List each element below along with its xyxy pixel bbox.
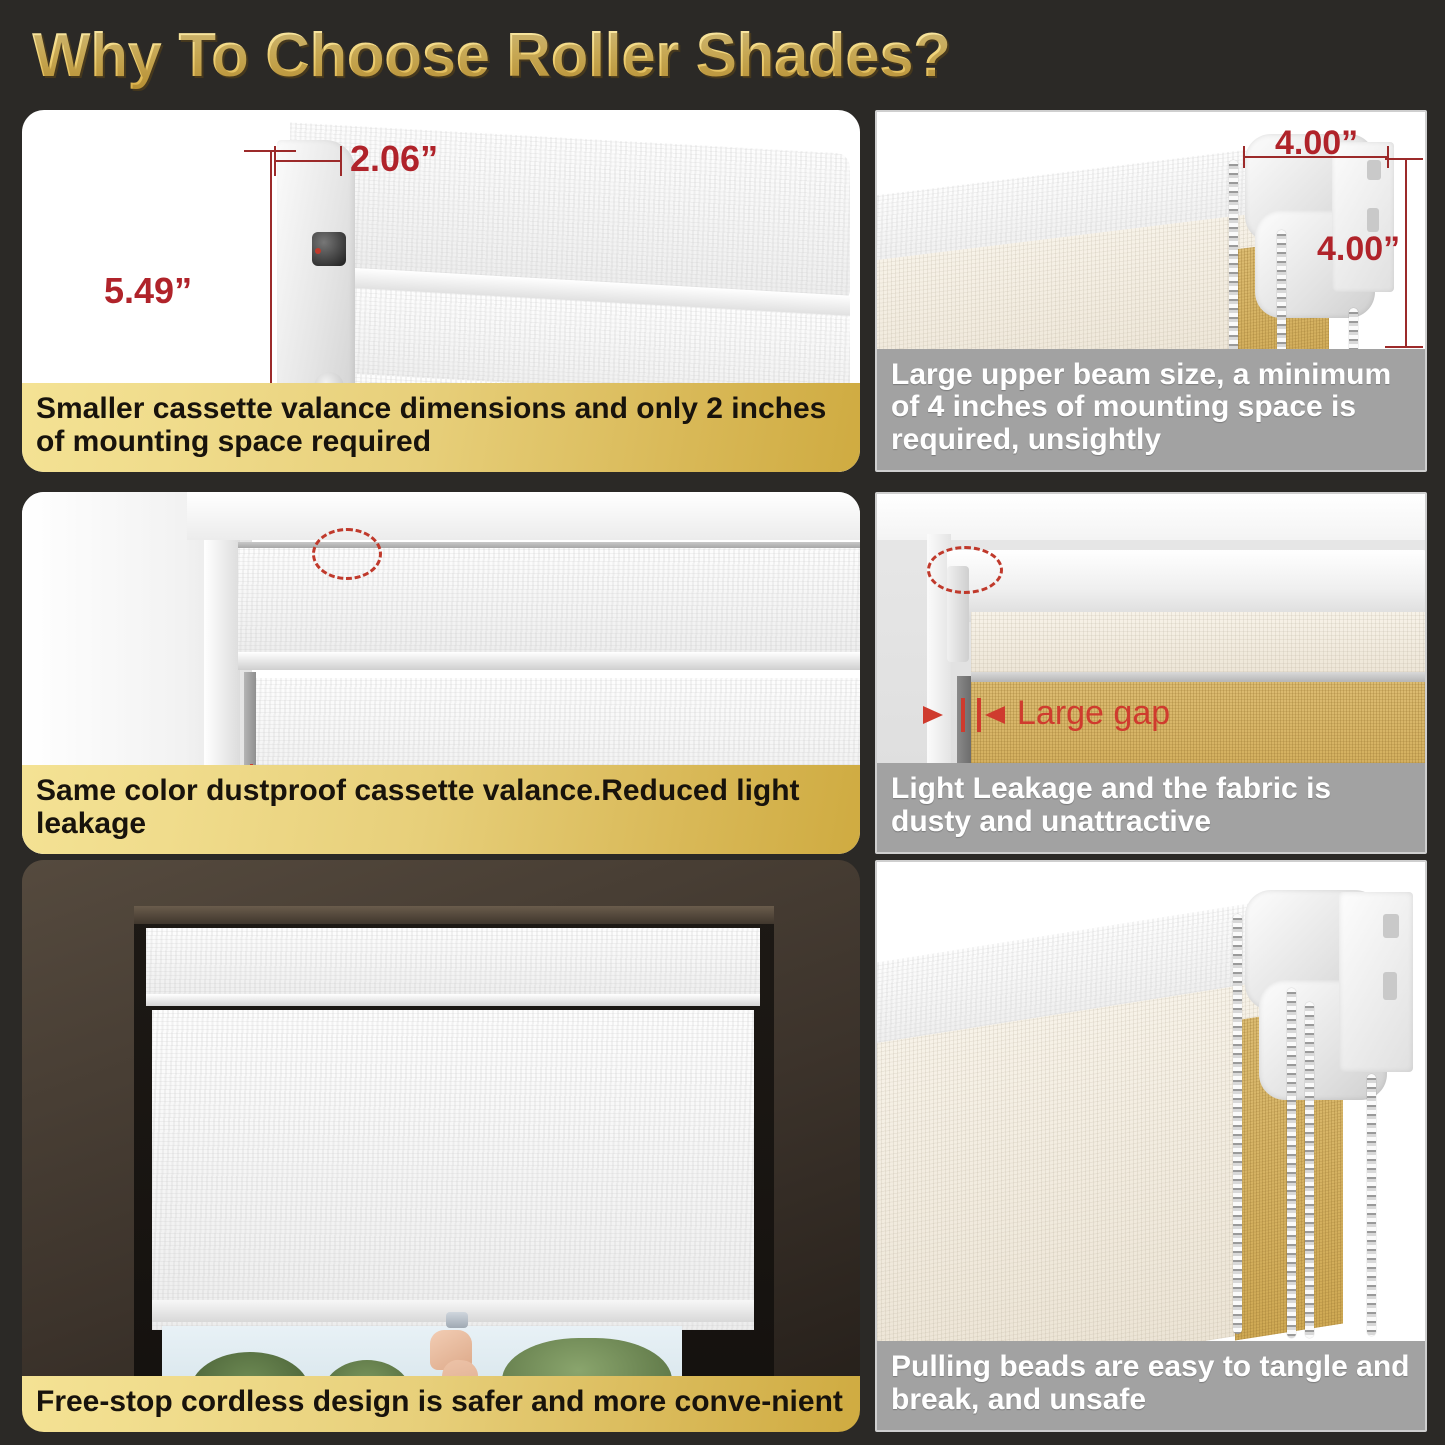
beam-height-dim-line (1405, 158, 1407, 348)
gap-arrow-left (923, 706, 943, 724)
beam-width-tick-left (1243, 146, 1245, 168)
cream-fabric-band (971, 612, 1425, 680)
caption-cassette-valance-dimensions: Smaller cassette valance dimensions and … (22, 383, 860, 472)
comparison-grid: 2.06” 5.49” Smaller cassette valance dim… (0, 110, 1445, 1445)
shade-fabric-panel (152, 1010, 754, 1330)
width-dim-line (274, 160, 342, 162)
ceiling-band (877, 494, 1425, 540)
end-cap-marker-dot (315, 248, 321, 254)
cream-fabric-front (877, 978, 1287, 1396)
gap-measure-tick-b (977, 698, 981, 732)
panel-large-upper-beam: 4.00” 4.00” Large upper beam size, a min… (875, 110, 1427, 472)
panel-free-stop-cordless-design: Free-stop cordless design is safer and m… (22, 860, 860, 1432)
height-dim-tick-top (244, 150, 296, 152)
bracket-slot-bottom (1367, 208, 1379, 232)
panel-pulling-beads-unsafe: Pulling beads are easy to tangle and bre… (875, 860, 1427, 1432)
beam-height-label: 4.00” (1317, 230, 1400, 269)
window-header-trim (134, 906, 774, 924)
highlight-circle-gap (312, 528, 382, 580)
bracket-slot-bottom (1383, 972, 1397, 1000)
valance-bottom-lip (146, 994, 760, 1006)
large-gap-label: Large gap (1017, 694, 1170, 733)
height-dimension-label: 5.49” (104, 270, 192, 312)
bracket-slot-top (1383, 914, 1399, 938)
valance-bottom-lip (238, 652, 860, 670)
beam-width-tick-right (1387, 146, 1389, 168)
bracket-slot-top (1367, 160, 1381, 180)
caption-light-leakage-dusty-fabric: Light Leakage and the fabric is dusty an… (877, 763, 1425, 852)
product-photo-cordless-window (22, 860, 860, 1432)
bracket-mounting-plate (1339, 892, 1413, 1072)
bead-chain-rear (1367, 1074, 1376, 1336)
window-frame-top (187, 492, 860, 540)
beam-height-tick-bottom (1385, 346, 1423, 348)
gap-arrow-right (985, 706, 1005, 724)
width-dimension-label: 2.06” (350, 138, 438, 180)
panel-dustproof-cassette-valance: smaller gap Same color dustproof cassett… (22, 492, 860, 854)
bead-chain-middle-2 (1305, 1002, 1314, 1338)
gap-measure-tick-a (961, 698, 965, 732)
shade-pull-tab (446, 1312, 468, 1328)
beam-width-label: 4.00” (1275, 124, 1358, 163)
fabric-divider (971, 672, 1425, 682)
highlight-circle-gap (927, 546, 1003, 594)
caption-large-upper-beam: Large upper beam size, a minimum of 4 in… (877, 349, 1425, 470)
bead-chain-front (1233, 914, 1242, 1334)
page-title: Why To Choose Roller Shades? (32, 20, 950, 91)
panel-cassette-valance-dimensions: 2.06” 5.49” Smaller cassette valance dim… (22, 110, 860, 472)
caption-dustproof-cassette-valance: Same color dustproof cassette valance.Re… (22, 765, 860, 854)
beam-height-tick-top (1385, 158, 1423, 160)
bead-chain-middle (1287, 988, 1296, 1338)
bracket-mounting-plate (1332, 142, 1394, 292)
panel-light-leakage-dusty-fabric: Large gap Light Leakage and the fabric i… (875, 492, 1427, 854)
header-bar: Why To Choose Roller Shades? (0, 0, 1445, 110)
caption-pulling-beads-unsafe: Pulling beads are easy to tangle and bre… (877, 1341, 1425, 1430)
valance-face (146, 928, 760, 1000)
caption-free-stop-cordless-design: Free-stop cordless design is safer and m… (22, 1376, 860, 1432)
